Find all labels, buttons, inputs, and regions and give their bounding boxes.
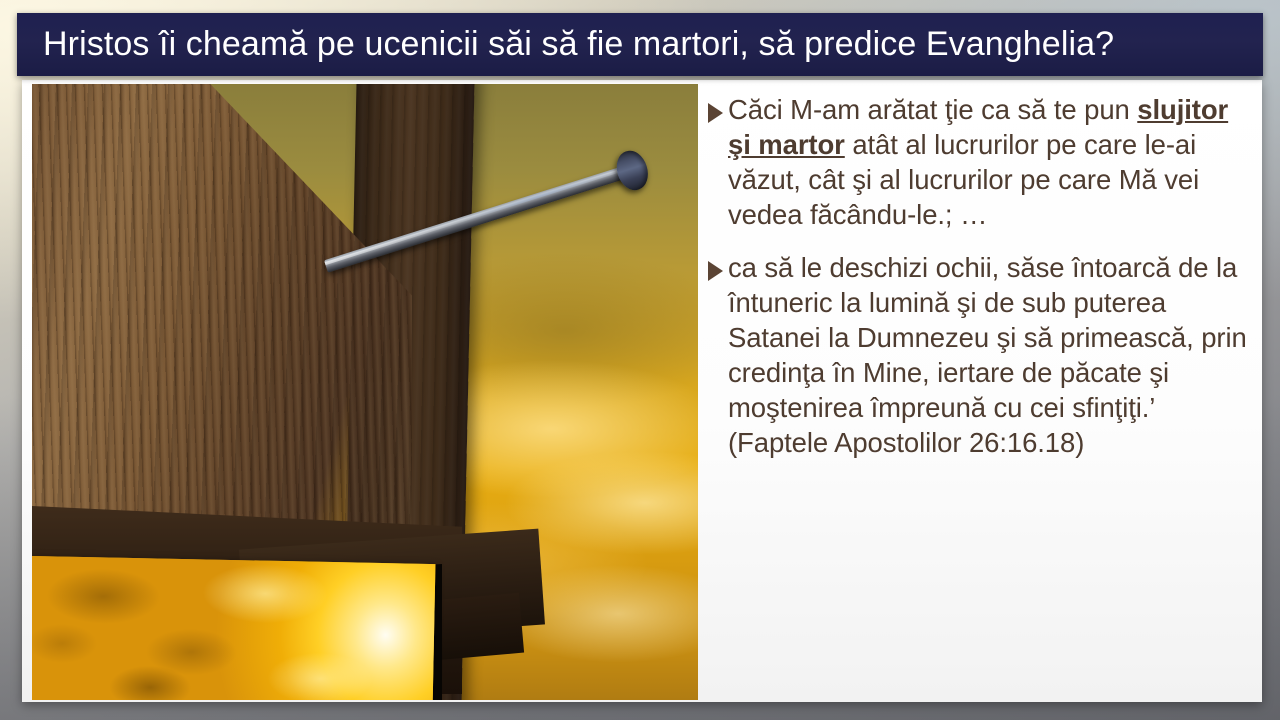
triangle-right-icon: [708, 103, 723, 123]
page-title: Hristos îi cheamă pe ucenicii săi să fie…: [17, 25, 1114, 64]
title-bar: Hristos îi cheamă pe ucenicii săi să fie…: [17, 13, 1263, 76]
bullet-item: Căci M-am arătat ţie ca să te pun slujit…: [708, 92, 1252, 232]
scripture-text-column: Căci M-am arătat ţie ca să te pun slujit…: [708, 92, 1252, 478]
scripture-reference: (Faptele Apostolilor 26:16.18): [728, 425, 1252, 460]
bullet-text-pre: Căci M-am arătat ţie ca să te pun: [728, 94, 1137, 125]
cross-photo-frame: [32, 84, 698, 700]
cross-photo: [32, 84, 698, 700]
cloud-texture: [32, 556, 435, 700]
slide-canvas: Hristos îi cheamă pe ucenicii săi să fie…: [0, 0, 1280, 720]
bullet-item: ca să le deschizi ochii, săse întoarcă d…: [708, 250, 1252, 460]
golden-clouds-inset-photo: [32, 556, 435, 700]
bullet-text-pre: ca să le deschizi ochii, săse întoarcă d…: [728, 252, 1247, 423]
triangle-right-icon: [708, 261, 723, 281]
bullet-paragraph: Căci M-am arătat ţie ca să te pun slujit…: [728, 92, 1252, 232]
bullet-paragraph: ca să le deschizi ochii, săse întoarcă d…: [728, 250, 1252, 460]
